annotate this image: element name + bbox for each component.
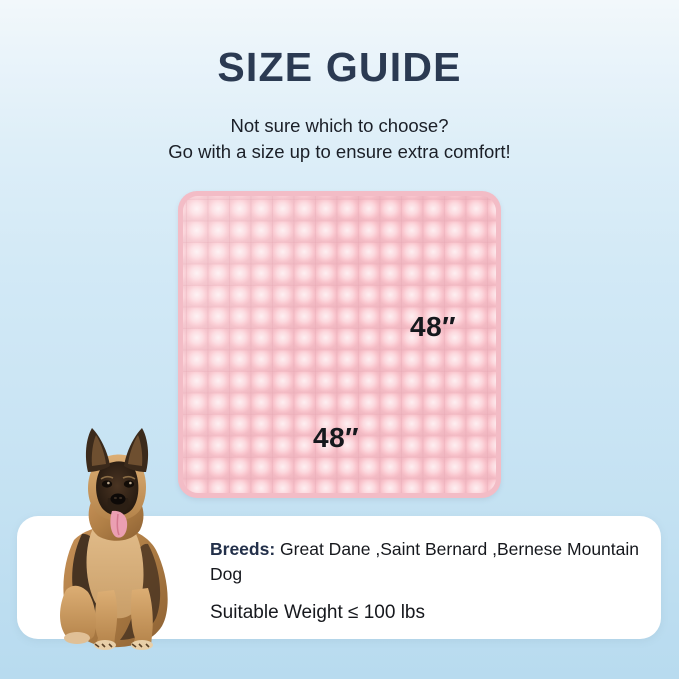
subtitle-line-1: Not sure which to choose? bbox=[0, 113, 679, 139]
dimension-label-width: 48″ bbox=[313, 422, 359, 454]
breeds-line: Breeds: Great Dane ,Saint Bernard ,Berne… bbox=[210, 537, 640, 587]
suitable-weight-line: Suitable Weight ≤ 100 lbs bbox=[210, 602, 640, 624]
german-shepherd-photo bbox=[36, 414, 188, 653]
breeds-value: Great Dane ,Saint Bernard ,Bernese Mount… bbox=[210, 539, 639, 584]
dimension-label-height: 48″ bbox=[410, 311, 456, 343]
page-title: SIZE GUIDE bbox=[0, 44, 679, 91]
breeds-label: Breeds: bbox=[210, 539, 275, 559]
subtitle-block: Not sure which to choose? Go with a size… bbox=[0, 113, 679, 165]
product-mat: 48″ 48″ bbox=[178, 191, 501, 498]
subtitle-line-2: Go with a size up to ensure extra comfor… bbox=[0, 139, 679, 165]
card-text-block: Breeds: Great Dane ,Saint Bernard ,Berne… bbox=[210, 537, 640, 624]
size-guide-infographic: SIZE GUIDE Not sure which to choose? Go … bbox=[0, 0, 679, 679]
